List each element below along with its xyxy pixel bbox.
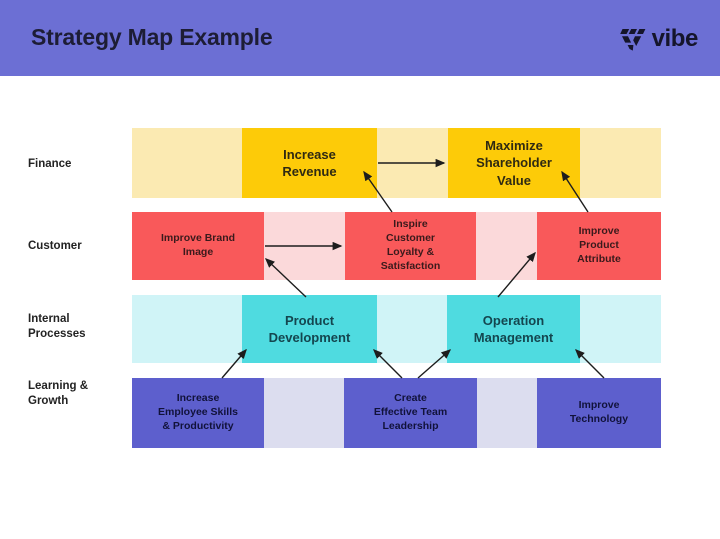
node-maximize-shareholder-value[interactable]: Maximize Shareholder Value — [448, 128, 580, 198]
row-label-learning-growth: Learning & Growth — [28, 379, 88, 409]
node-inspire-customer-loyalty-label: Inspire Customer Loyalty & Satisfaction — [345, 218, 476, 273]
node-improve-technology[interactable]: Improve Technology — [537, 378, 661, 448]
node-inspire-customer-loyalty[interactable]: Inspire Customer Loyalty & Satisfaction — [345, 212, 476, 280]
node-operation-management-label: Operation Management — [447, 312, 580, 346]
node-improve-brand-image-label: Improve Brand Image — [132, 232, 264, 260]
row-label-customer: Customer — [28, 239, 82, 254]
node-operation-management[interactable]: Operation Management — [447, 295, 580, 363]
node-improve-product-attribute-label: Improve Product Attribute — [537, 225, 661, 267]
node-create-effective-team-leadership-label: Create Effective Team Leadership — [344, 392, 477, 434]
band-finance — [132, 128, 661, 198]
node-increase-revenue[interactable]: Increase Revenue — [242, 128, 377, 198]
brand-name: vibe — [652, 27, 698, 51]
slide-header: Strategy Map Example vibe — [0, 0, 720, 76]
node-maximize-shareholder-value-label: Maximize Shareholder Value — [448, 137, 580, 188]
node-improve-technology-label: Improve Technology — [537, 399, 661, 427]
band-internal-processes — [132, 295, 661, 363]
node-improve-brand-image[interactable]: Improve Brand Image — [132, 212, 264, 280]
node-product-development-label: Product Development — [242, 312, 377, 346]
slide-canvas: Strategy Map Example vibe Finance Custom… — [0, 0, 720, 539]
node-product-development[interactable]: Product Development — [242, 295, 377, 363]
brand-logo: vibe — [620, 25, 698, 53]
page-title: Strategy Map Example — [31, 24, 272, 51]
vibe-triangle-logo-icon — [620, 27, 647, 52]
node-increase-employee-skills-label: Increase Employee Skills & Productivity — [132, 392, 264, 434]
node-improve-product-attribute[interactable]: Improve Product Attribute — [537, 212, 661, 280]
node-increase-revenue-label: Increase Revenue — [242, 146, 377, 180]
row-label-finance: Finance — [28, 157, 71, 172]
node-increase-employee-skills[interactable]: Increase Employee Skills & Productivity — [132, 378, 264, 448]
row-label-internal-processes: Internal Processes — [28, 312, 86, 342]
node-create-effective-team-leadership[interactable]: Create Effective Team Leadership — [344, 378, 477, 448]
